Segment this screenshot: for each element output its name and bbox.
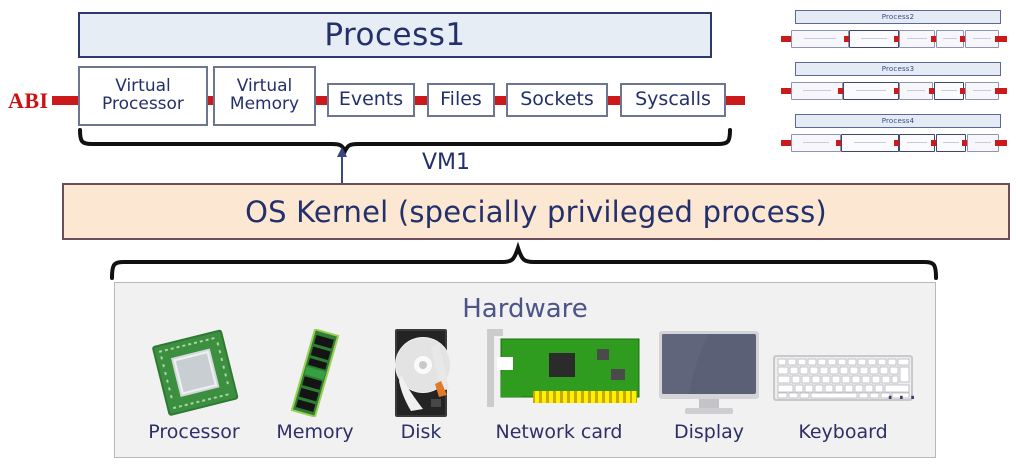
abi-box-virtual-memory[interactable]: Virtual Memory xyxy=(213,66,316,126)
abi-box-files[interactable]: Files xyxy=(427,83,495,117)
abi-label: ABI xyxy=(8,88,49,114)
vm1-arrow xyxy=(330,146,370,188)
hardware-item-network-card[interactable]: Network card xyxy=(471,329,647,453)
mini-component-box xyxy=(843,82,899,100)
abi-connector-dash xyxy=(723,96,745,105)
mini-process-row xyxy=(781,30,1007,48)
mini-connector-dash xyxy=(995,140,1007,146)
mini-component-box xyxy=(791,82,843,100)
abi-box-events[interactable]: Events xyxy=(327,83,415,117)
hardware-label-keyboard: Keyboard xyxy=(755,421,931,443)
abi-box-label: Files xyxy=(440,90,482,110)
processor-icon xyxy=(129,329,259,417)
abi-box-line2: Memory xyxy=(230,96,299,114)
abi-box-label: Syscalls xyxy=(635,90,711,110)
hardware-panel: Hardware xyxy=(114,282,936,458)
mini-component-box xyxy=(965,30,999,48)
abi-box-syscalls[interactable]: Syscalls xyxy=(620,83,726,117)
mini-component-box xyxy=(899,134,935,152)
vm1-brace xyxy=(70,126,750,154)
mini-process-header: Process3 xyxy=(795,62,1001,76)
diagram-canvas: Process1 ABI Virtual Processor Virtual M… xyxy=(0,0,1016,473)
mini-component-box xyxy=(791,134,841,152)
mini-process-title: Process3 xyxy=(882,65,915,73)
disk-icon xyxy=(371,329,471,417)
display-icon xyxy=(649,329,769,417)
abi-box-label: Sockets xyxy=(520,90,594,110)
hardware-label-processor: Processor xyxy=(115,421,273,443)
mini-component-box xyxy=(791,30,849,48)
hardware-label-network-card: Network card xyxy=(457,421,661,443)
abi-box-label: Events xyxy=(339,90,403,110)
mini-process-diagram[interactable]: Process3 xyxy=(781,62,1007,102)
hardware-item-disk[interactable]: Disk xyxy=(371,329,471,453)
mini-component-box xyxy=(899,30,935,48)
process1-label: Process1 xyxy=(324,17,465,53)
mini-process-row xyxy=(781,82,1007,100)
mini-process-title: Process4 xyxy=(882,117,915,125)
mini-component-box xyxy=(849,30,899,48)
hardware-item-memory[interactable]: Memory xyxy=(265,329,365,453)
mini-connector-dash xyxy=(995,36,1007,42)
abi-box-line2: Processor xyxy=(102,96,184,114)
process1-box: Process1 xyxy=(78,12,712,58)
abi-box-sockets[interactable]: Sockets xyxy=(506,83,608,117)
mini-component-box xyxy=(965,82,999,100)
mini-process-title: Process2 xyxy=(882,13,915,21)
mini-process-diagram[interactable]: Process2 xyxy=(781,10,1007,50)
os-kernel-box: OS Kernel (specially privileged process) xyxy=(62,183,1010,240)
abi-box-virtual-processor[interactable]: Virtual Processor xyxy=(78,66,208,126)
hardware-title: Hardware xyxy=(115,294,935,324)
mini-process-diagram[interactable]: Process4 xyxy=(781,114,1007,154)
network-card-icon xyxy=(471,329,647,417)
abi-connector-dash xyxy=(52,96,80,105)
mini-process-row xyxy=(781,134,1007,152)
hardware-brace xyxy=(100,244,960,280)
hardware-item-processor[interactable]: Processor xyxy=(129,329,259,453)
vm1-label: VM1 xyxy=(422,150,470,175)
hardware-item-display[interactable]: Display xyxy=(649,329,769,453)
mini-process-header: Process4 xyxy=(795,114,1001,128)
memory-icon xyxy=(265,329,365,417)
os-kernel-label: OS Kernel (specially privileged process) xyxy=(245,195,827,229)
mini-connector-dash xyxy=(995,88,1007,94)
mini-process-header: Process2 xyxy=(795,10,1001,24)
mini-component-box xyxy=(899,82,933,100)
hardware-more-ellipsis: ... xyxy=(886,376,920,406)
mini-component-box xyxy=(841,134,899,152)
